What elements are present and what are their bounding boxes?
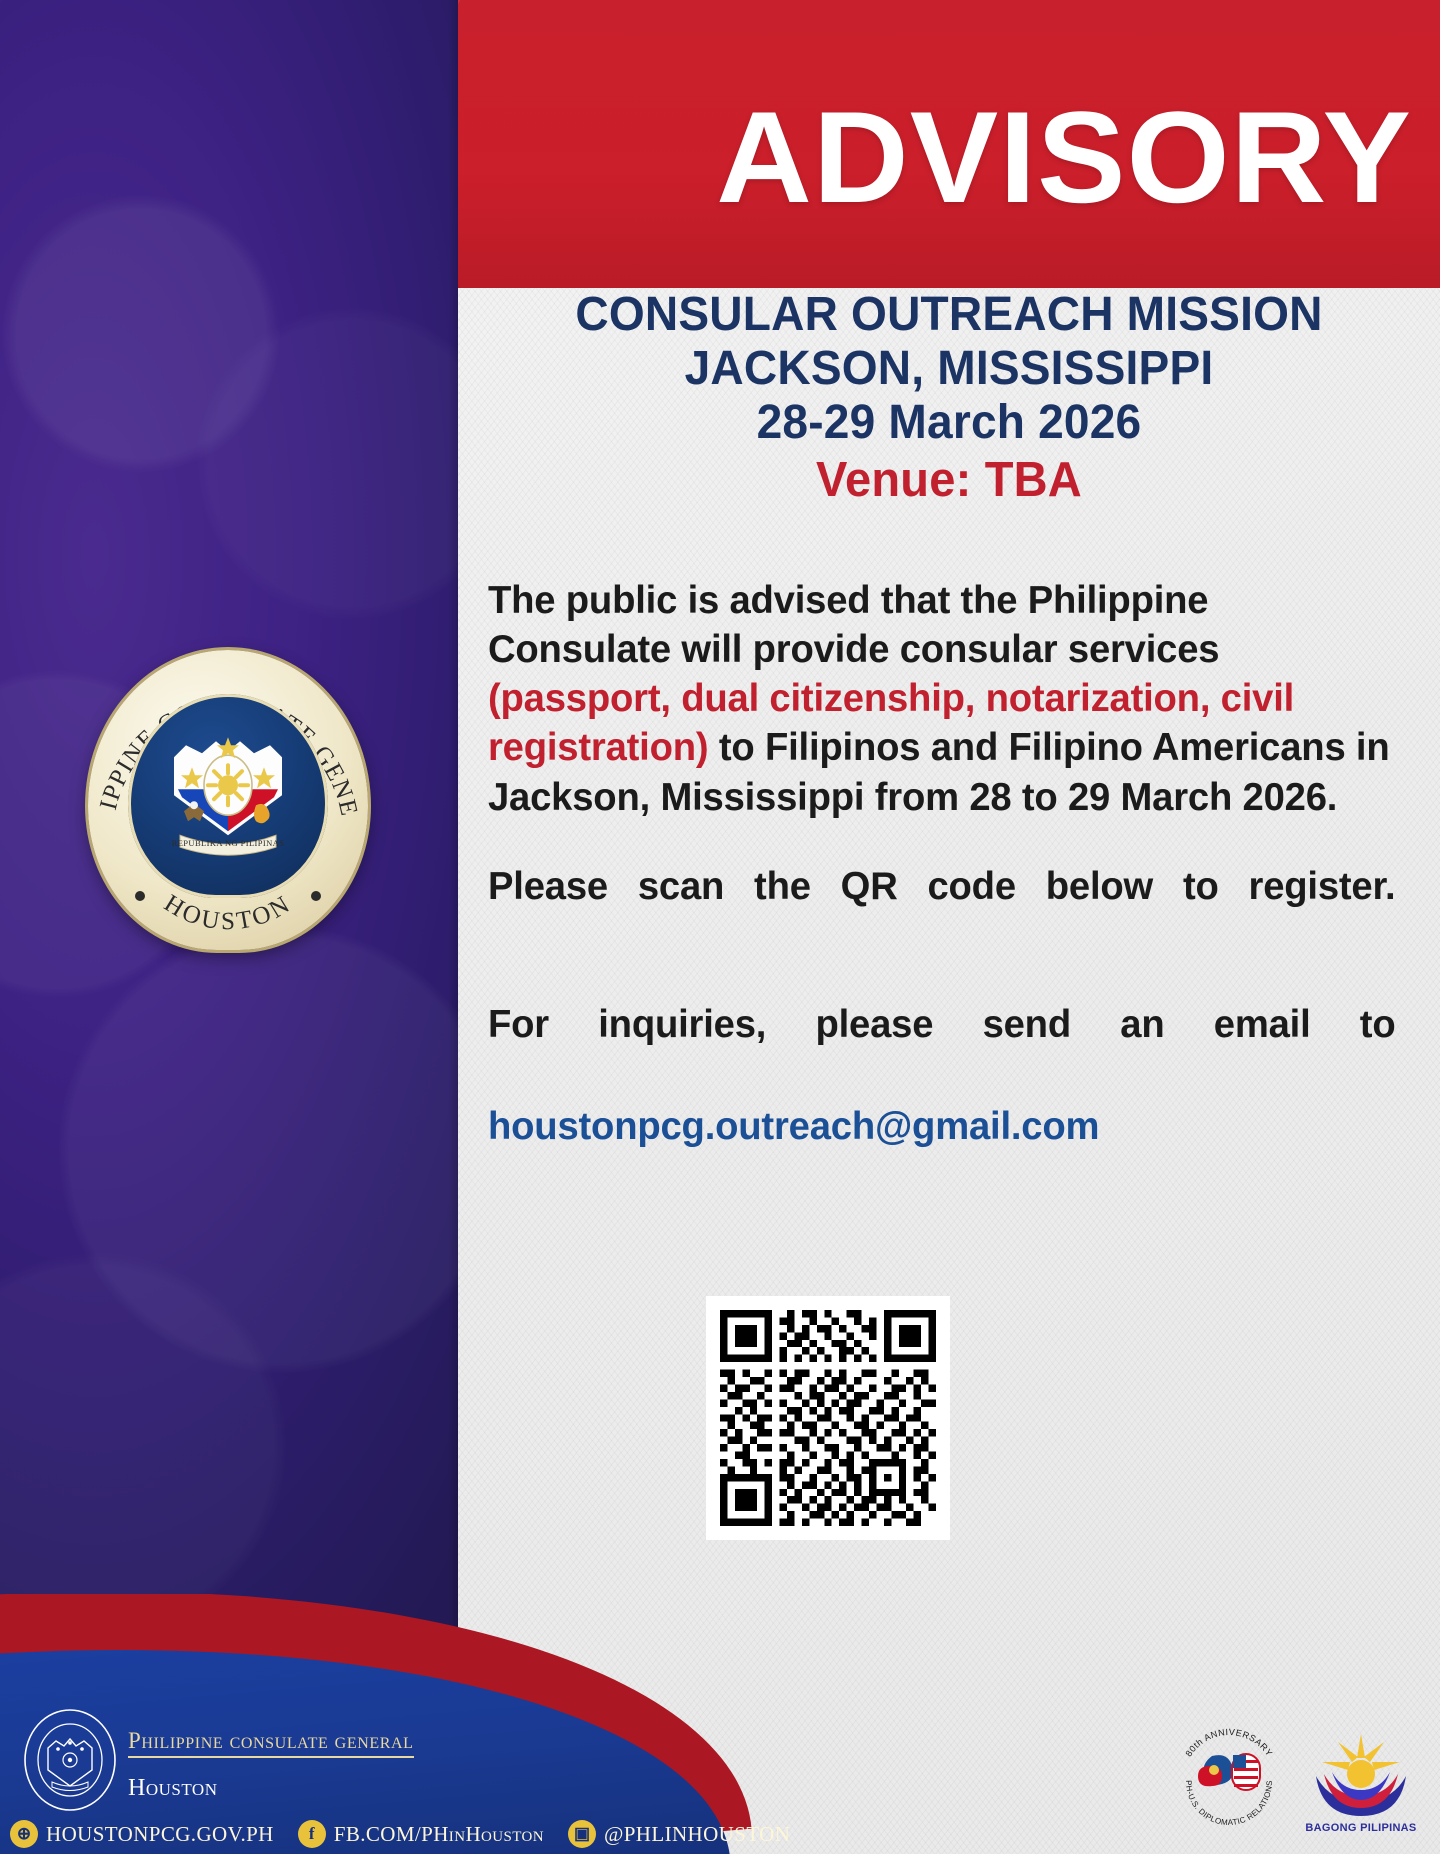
seal-motto-scroll: REPUBLIKA NG PILIPINAS bbox=[172, 835, 285, 855]
body-paragraph-2: Please scan the QR code below to registe… bbox=[488, 862, 1395, 960]
footer-instagram-label: @PHLINHOUSTON bbox=[604, 1822, 790, 1847]
footer-website-label: HOUSTONPCG.GOV.PH bbox=[46, 1822, 274, 1847]
footer-branding: Philippine consulate general Houston ⊕ H… bbox=[0, 1654, 700, 1854]
footer-city: Houston bbox=[128, 1775, 217, 1802]
headline-line-2: JACKSON, MISSISSIPPI bbox=[501, 342, 1398, 396]
registration-qr-code[interactable] bbox=[706, 1296, 950, 1540]
facebook-icon: f bbox=[298, 1820, 326, 1848]
headline-line-1: CONSULAR OUTREACH MISSION bbox=[501, 288, 1398, 342]
footer-seal-icon bbox=[22, 1708, 118, 1812]
advisory-poster: PHILIPPINE CONSULATE GENERAL HOUSTON bbox=[0, 0, 1440, 1854]
poster-footer: Philippine consulate general Houston ⊕ H… bbox=[0, 1594, 1440, 1854]
seal-inner-disc: REPUBLIKA NG PILIPINAS bbox=[128, 694, 328, 898]
advisory-body: The public is advised that the Philippin… bbox=[488, 576, 1395, 1191]
footer-link-facebook[interactable]: f FB.COM/PHinHouston bbox=[298, 1820, 544, 1848]
philippine-coat-of-arms: REPUBLIKA NG PILIPINAS bbox=[164, 723, 292, 863]
contact-email[interactable]: houstonpcg.outreach@gmail.com bbox=[488, 1102, 1395, 1151]
bagong-pilipinas-logo: BAGONG PILIPINAS bbox=[1302, 1728, 1420, 1836]
event-headline: CONSULAR OUTREACH MISSION JACKSON, MISSI… bbox=[501, 288, 1398, 508]
globe-icon: ⊕ bbox=[10, 1820, 38, 1848]
advisory-banner: ADVISORY bbox=[458, 0, 1440, 288]
bagong-pilipinas-label: BAGONG PILIPINAS bbox=[1305, 1822, 1416, 1834]
seal-star-left bbox=[135, 891, 145, 901]
headline-venue: Venue: TBA bbox=[501, 453, 1398, 508]
footer-facebook-label: FB.COM/PHinHouston bbox=[334, 1822, 544, 1847]
left-decorative-panel: PHILIPPINE CONSULATE GENERAL HOUSTON bbox=[0, 0, 470, 1854]
instagram-icon: ▣ bbox=[568, 1820, 596, 1848]
footer-org-name: Philippine consulate general bbox=[128, 1728, 414, 1758]
anniversary-numeral-8 bbox=[1198, 1755, 1233, 1786]
seal-star-right bbox=[311, 891, 321, 901]
consulate-seal: PHILIPPINE CONSULATE GENERAL HOUSTON bbox=[88, 650, 368, 950]
qr-code-graphic bbox=[720, 1310, 936, 1526]
anniversary-numeral-0 bbox=[1232, 1754, 1260, 1790]
anniversary-ring-top: 80th ANNIVERSARY bbox=[1183, 1727, 1274, 1758]
body-p1-part1: The public is advised that the Philippin… bbox=[488, 579, 1219, 671]
footer-link-instagram[interactable]: ▣ @PHLINHOUSTON bbox=[568, 1820, 790, 1848]
seal-motto-text: REPUBLIKA NG PILIPINAS bbox=[172, 838, 285, 848]
anniversary-logo: 80th ANNIVERSARY PH-U.S. DIPLOMATIC RELA… bbox=[1170, 1718, 1288, 1836]
bagong-pilipinas-emblem bbox=[1316, 1734, 1406, 1816]
anniversary-ring-bottom: PH-U.S. DIPLOMATIC RELATIONS bbox=[1184, 1780, 1274, 1827]
footer-link-website[interactable]: ⊕ HOUSTONPCG.GOV.PH bbox=[10, 1820, 274, 1848]
headline-dates: 28-29 March 2026 bbox=[501, 396, 1398, 450]
footer-logo-group: 80th ANNIVERSARY PH-U.S. DIPLOMATIC RELA… bbox=[1170, 1718, 1420, 1836]
svg-text:80th ANNIVERSARY: 80th ANNIVERSARY bbox=[1183, 1727, 1274, 1758]
advisory-banner-label: ADVISORY bbox=[439, 92, 1412, 222]
body-paragraph-3: For inquiries, please send an email to bbox=[488, 1000, 1395, 1098]
body-paragraph-1: The public is advised that the Philippin… bbox=[488, 576, 1395, 822]
lion-figure bbox=[254, 804, 270, 823]
footer-social-links: ⊕ HOUSTONPCG.GOV.PH f FB.COM/PHinHouston… bbox=[10, 1820, 804, 1848]
svg-text:PH-U.S. DIPLOMATIC RELATIONS: PH-U.S. DIPLOMATIC RELATIONS bbox=[1184, 1780, 1274, 1827]
